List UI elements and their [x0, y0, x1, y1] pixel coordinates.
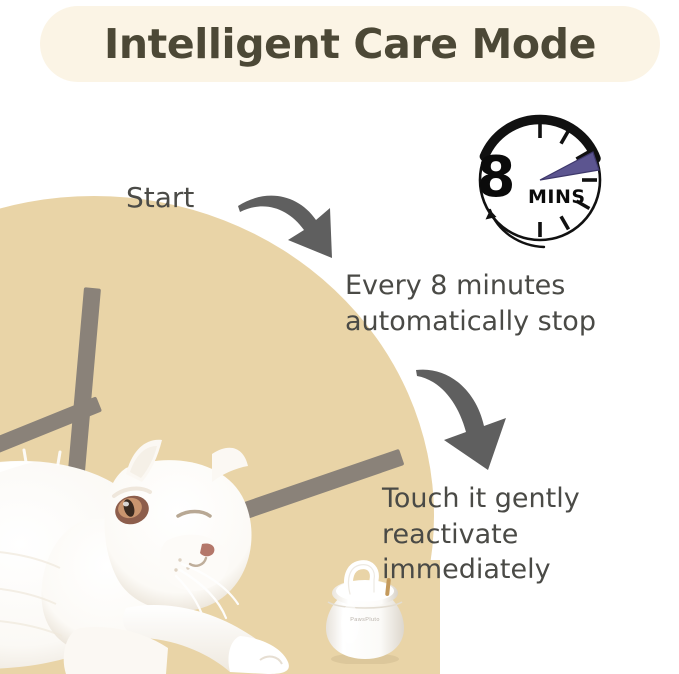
white-persian-cat-photo	[0, 392, 360, 674]
curved-arrow-down-right-icon	[236, 186, 346, 262]
curved-arrow-down-right-icon-2	[414, 364, 516, 474]
page-title: Intelligent Care Mode	[104, 20, 596, 68]
title-banner: Intelligent Care Mode	[40, 6, 660, 82]
label-start: Start	[126, 181, 194, 214]
timer-dial-icon: 8 MINS	[462, 98, 667, 268]
label-step-two: Every 8 minutes automatically stop	[345, 268, 596, 339]
label-step-three: Touch it gently reactivate immediately	[382, 481, 679, 588]
timer-number: 8	[470, 150, 522, 206]
infographic-canvas: PawsPluto 8 MINS	[0, 0, 679, 674]
device-brand-label: PawsPluto	[314, 617, 416, 623]
timer-unit-label: MINS	[528, 186, 600, 208]
